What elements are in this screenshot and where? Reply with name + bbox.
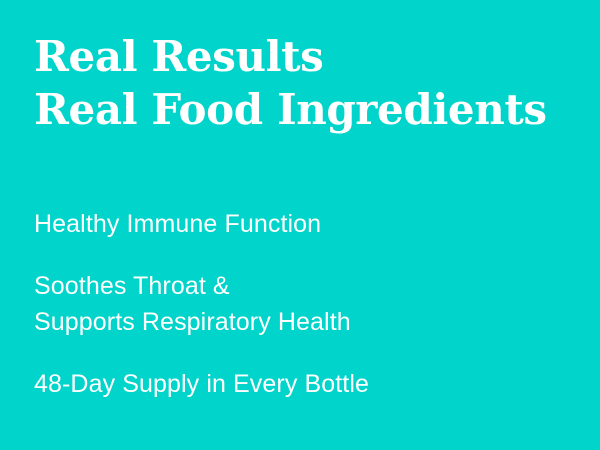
headline-line-1: Real Results: [34, 30, 582, 83]
benefit-immune-line-1: Healthy Immune Function: [34, 206, 574, 242]
benefit-throat-respiratory-line-1: Soothes Throat &: [34, 268, 574, 304]
benefit-supply: 48-Day Supply in Every Bottle: [34, 366, 574, 402]
promo-banner: Real Results Real Food Ingredients Healt…: [0, 0, 600, 450]
benefit-supply-line-1: 48-Day Supply in Every Bottle: [34, 366, 574, 402]
headline: Real Results Real Food Ingredients: [34, 30, 582, 136]
benefit-immune: Healthy Immune Function: [34, 206, 574, 242]
headline-line-2: Real Food Ingredients: [34, 83, 582, 136]
benefit-throat-respiratory: Soothes Throat & Supports Respiratory He…: [34, 268, 574, 340]
benefit-throat-respiratory-line-2: Supports Respiratory Health: [34, 304, 574, 340]
benefit-list: Healthy Immune Function Soothes Throat &…: [34, 206, 574, 402]
